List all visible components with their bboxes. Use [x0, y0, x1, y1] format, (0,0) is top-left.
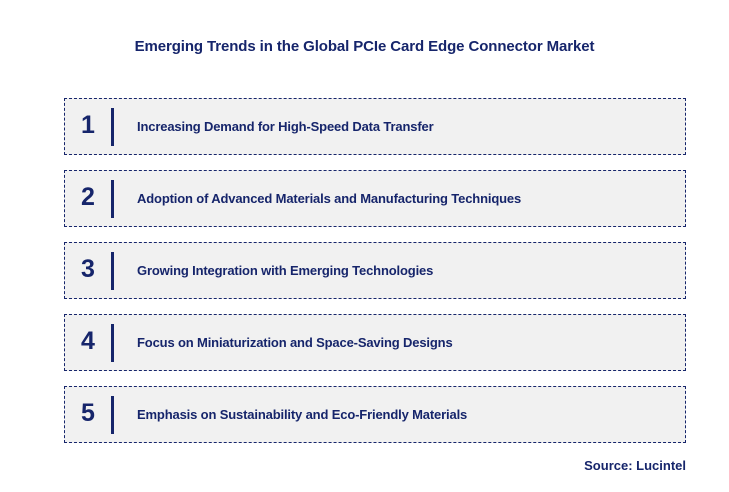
trend-item-5: 5 Emphasis on Sustainability and Eco-Fri…	[64, 386, 686, 443]
trends-infographic: Emerging Trends in the Global PCIe Card …	[0, 0, 729, 492]
trend-label: Focus on Miniaturization and Space-Savin…	[114, 335, 685, 350]
page-title: Emerging Trends in the Global PCIe Card …	[0, 38, 729, 55]
trend-number: 5	[65, 401, 111, 428]
trend-label: Adoption of Advanced Materials and Manuf…	[114, 191, 685, 206]
trend-item-1: 1 Increasing Demand for High-Speed Data …	[64, 98, 686, 155]
trend-item-4: 4 Focus on Miniaturization and Space-Sav…	[64, 314, 686, 371]
trend-number: 2	[65, 185, 111, 212]
trend-label: Growing Integration with Emerging Techno…	[114, 263, 685, 278]
trend-label: Emphasis on Sustainability and Eco-Frien…	[114, 407, 685, 422]
trend-number: 4	[65, 329, 111, 356]
trend-number: 1	[65, 113, 111, 140]
trend-item-3: 3 Growing Integration with Emerging Tech…	[64, 242, 686, 299]
trend-label: Increasing Demand for High-Speed Data Tr…	[114, 119, 685, 134]
trend-item-2: 2 Adoption of Advanced Materials and Man…	[64, 170, 686, 227]
trend-number: 3	[65, 257, 111, 284]
source-attribution: Source: Lucintel	[584, 458, 686, 473]
trend-list: 1 Increasing Demand for High-Speed Data …	[64, 98, 686, 443]
